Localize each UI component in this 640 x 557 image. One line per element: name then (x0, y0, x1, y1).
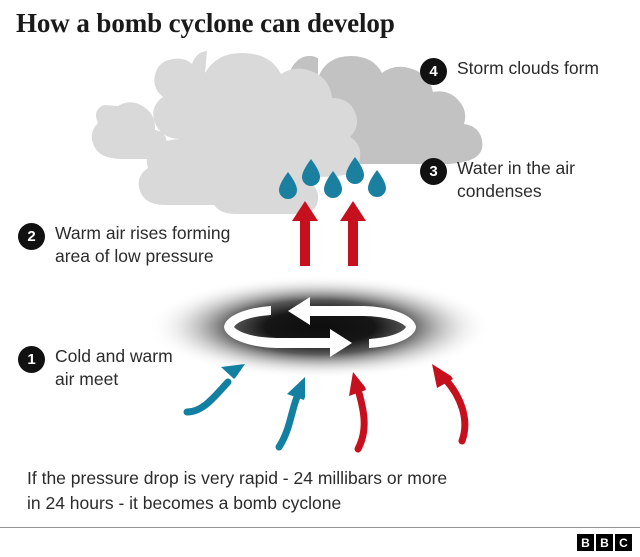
curved-arrow-icon-cold-1 (187, 364, 245, 412)
step-badge-1: 1 (18, 346, 45, 373)
low-pressure-vortex-icon (148, 275, 492, 379)
step-label-1: Cold and warm air meet (55, 345, 173, 391)
bbc-logo: B B C (577, 534, 632, 551)
cloud-icon-front (92, 51, 361, 214)
raindrop-icon (346, 157, 364, 184)
step-storm-clouds-form: 4 Storm clouds form (420, 57, 599, 85)
step-badge-3: 3 (420, 158, 447, 185)
step-label-4: Storm clouds form (457, 57, 599, 80)
infographic-root: How a bomb cyclone can develop (0, 0, 640, 557)
curved-arrow-icon-warm-1 (349, 372, 366, 449)
step-label-3: Water in the air condenses (457, 157, 575, 203)
up-arrow-icon (292, 201, 318, 266)
bbc-logo-letter-3: C (615, 534, 632, 551)
caption-text: If the pressure drop is very rapid - 24 … (27, 466, 447, 516)
raindrop-icon (368, 170, 386, 197)
raindrop-icon (279, 172, 297, 199)
raindrop-icon-group (279, 157, 386, 199)
curved-arrow-icon-cold-2 (279, 377, 305, 447)
curved-arrow-icon-group-cold (187, 364, 305, 447)
step-badge-2: 2 (18, 223, 45, 250)
raindrop-icon (302, 159, 320, 186)
up-arrow-icon-group (292, 201, 366, 266)
step-label-2: Warm air rises forming area of low press… (55, 222, 230, 268)
step-badge-4: 4 (420, 58, 447, 85)
step-cold-and-warm-air-meet: 1 Cold and warm air meet (18, 345, 173, 391)
up-arrow-icon (340, 201, 366, 266)
step-warm-air-rises: 2 Warm air rises forming area of low pre… (18, 222, 230, 268)
bbc-logo-letter-1: B (577, 534, 594, 551)
bbc-logo-letter-2: B (596, 534, 613, 551)
page-title: How a bomb cyclone can develop (16, 8, 395, 39)
curved-arrow-icon-group-warm (349, 364, 465, 449)
footer-divider (0, 527, 640, 528)
curved-arrow-icon-warm-2 (432, 364, 465, 441)
step-water-condenses: 3 Water in the air condenses (420, 157, 575, 203)
raindrop-icon (324, 171, 342, 198)
